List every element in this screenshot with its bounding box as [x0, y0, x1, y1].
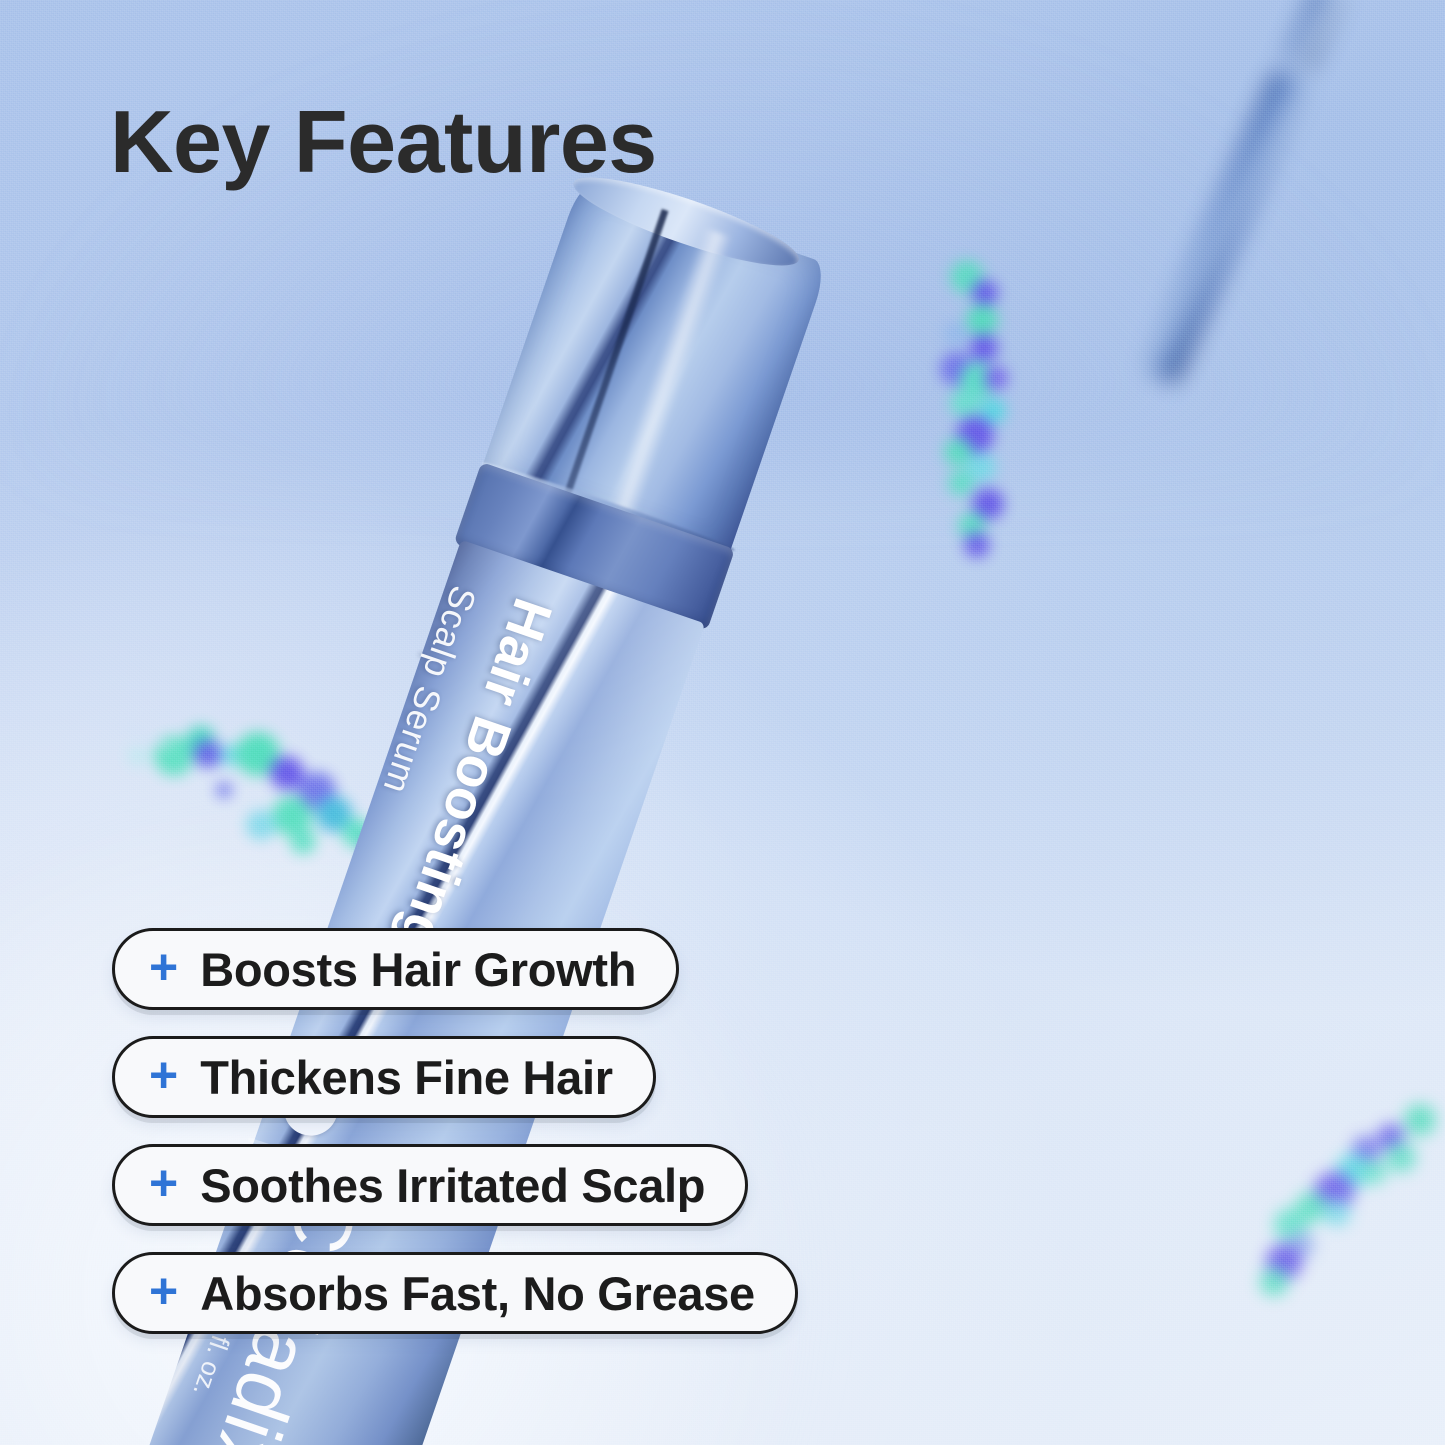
feature-label: Boosts Hair Growth	[200, 942, 636, 997]
feature-label: Thickens Fine Hair	[200, 1050, 613, 1105]
feature-list: + Boosts Hair Growth + Thickens Fine Hai…	[112, 928, 798, 1334]
product-feature-graphic: Hair Boosting Scalp Serum Celladix .50 f…	[0, 0, 1445, 1445]
feature-pill-2[interactable]: + Thickens Fine Hair	[112, 1036, 656, 1118]
plus-icon: +	[149, 1158, 178, 1208]
feature-pill-3[interactable]: + Soothes Irritated Scalp	[112, 1144, 748, 1226]
plus-icon: +	[149, 942, 178, 992]
page-title: Key Features	[110, 98, 657, 186]
feature-label: Soothes Irritated Scalp	[200, 1158, 705, 1213]
feature-pill-1[interactable]: + Boosts Hair Growth	[112, 928, 679, 1010]
plus-icon: +	[149, 1266, 178, 1316]
plus-icon: +	[149, 1050, 178, 1100]
feature-label: Absorbs Fast, No Grease	[200, 1266, 755, 1321]
feature-pill-4[interactable]: + Absorbs Fast, No Grease	[112, 1252, 798, 1334]
